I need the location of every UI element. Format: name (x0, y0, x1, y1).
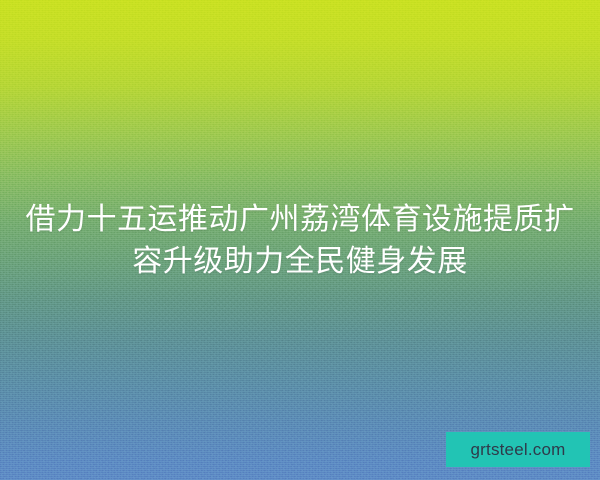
banner-image: 借力十五运推动广州荔湾体育设施提质扩 容升级助力全民健身发展 grtsteel.… (0, 0, 600, 480)
watermark-badge: grtsteel.com (446, 432, 590, 467)
watermark-label: grtsteel.com (471, 441, 566, 458)
page-title: 借力十五运推动广州荔湾体育设施提质扩 容升级助力全民健身发展 (0, 199, 600, 283)
